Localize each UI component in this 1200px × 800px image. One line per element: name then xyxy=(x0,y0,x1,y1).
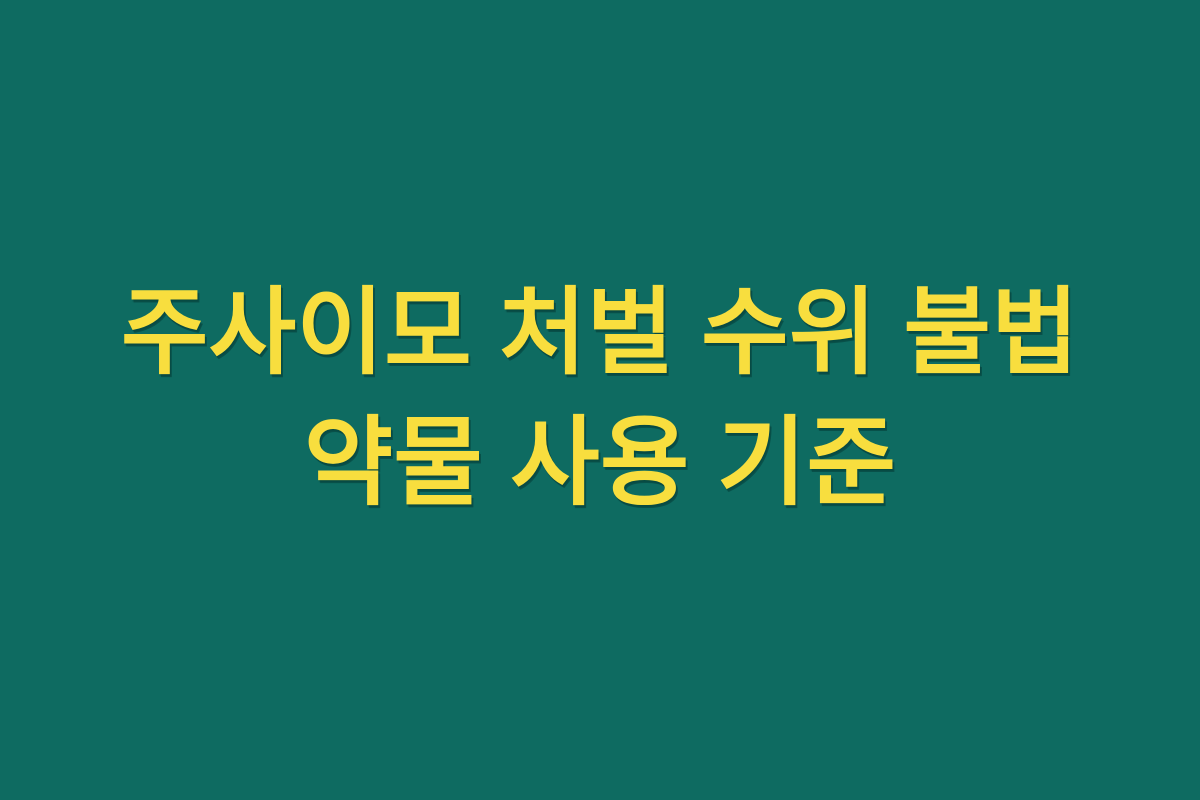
headline-line-1: 주사이모 처벌 수위 불법 xyxy=(40,270,1160,397)
headline-line-2: 약물 사용 기준 xyxy=(40,398,1160,528)
headline-block: 주사이모 처벌 수위 불법 약물 사용 기준 xyxy=(0,270,1200,527)
title-card: 주사이모 처벌 수위 불법 약물 사용 기준 xyxy=(0,0,1200,800)
